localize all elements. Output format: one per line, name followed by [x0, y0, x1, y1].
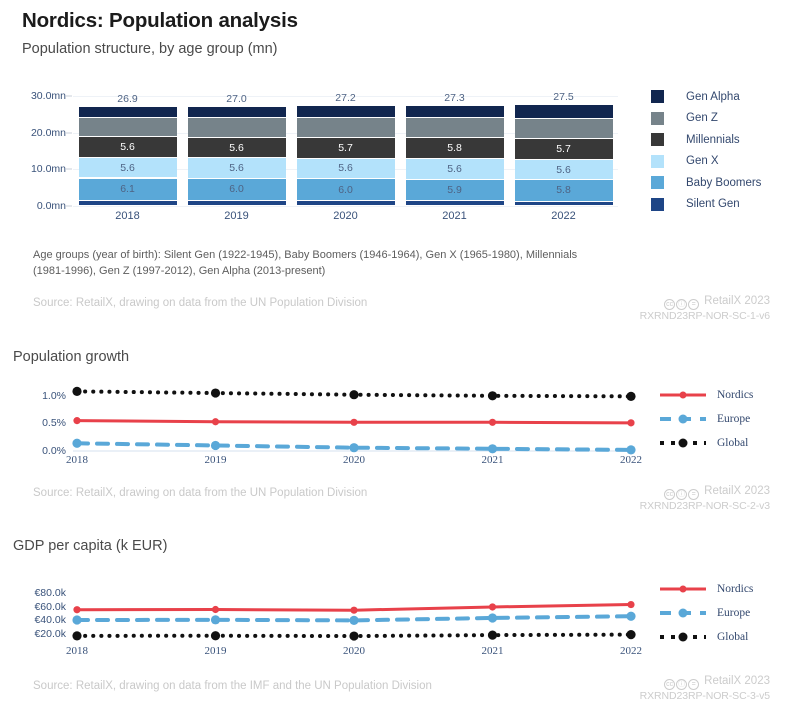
series-point[interactable]	[488, 391, 497, 400]
bar-segment[interactable]: 5.6	[515, 160, 613, 181]
bar-segment[interactable]	[188, 118, 286, 137]
series-point[interactable]	[211, 388, 220, 397]
chart1-y-tick-mark	[66, 132, 72, 133]
bar-segment[interactable]	[406, 118, 504, 138]
stacked-bar[interactable]: 6.05.65.627.0	[188, 96, 286, 206]
series-point[interactable]	[489, 603, 496, 610]
bar-segment[interactable]: 6.0	[188, 179, 286, 201]
bar-segment[interactable]: 5.7	[297, 138, 395, 159]
legend-item[interactable]: Gen Z	[651, 108, 761, 130]
legend-swatch	[651, 112, 664, 125]
plot2-y-tick-label: 1.0%	[42, 390, 66, 402]
bar-segment[interactable]	[515, 119, 613, 139]
chart1-y-tick-mark	[66, 96, 72, 97]
xticks3-label: 2019	[205, 645, 227, 657]
chart1-x-tick-label: 2021	[442, 210, 466, 222]
series-point[interactable]	[211, 441, 220, 450]
plot2-y-tick-label: 0.5%	[42, 417, 66, 429]
chart1-x-tick-label: 2018	[115, 210, 139, 222]
bar-segment[interactable]: 5.6	[79, 158, 177, 179]
legend-key-dot	[679, 415, 688, 424]
series-point[interactable]	[350, 419, 357, 426]
xticks3-label: 2022	[620, 645, 642, 657]
bar-segment-value: 5.6	[79, 141, 177, 153]
series-point[interactable]	[211, 615, 220, 624]
xticks3-label: 2018	[66, 645, 88, 657]
series-point[interactable]	[488, 444, 497, 453]
chart1-x-tick-label: 2020	[333, 210, 357, 222]
legend-label: Millennials	[686, 134, 740, 146]
legend-swatch	[651, 198, 664, 211]
chart2-title: Population growth	[13, 349, 129, 365]
legend-swatch	[651, 90, 664, 103]
stacked-bar[interactable]: 5.85.65.727.5	[515, 96, 613, 206]
bar-segment-value: 5.6	[79, 162, 177, 174]
legend-item[interactable]: Gen X	[651, 151, 761, 173]
bar-segment-value: 5.6	[515, 164, 613, 176]
chart3-legend: NordicsEuropeGlobal	[660, 577, 753, 649]
legend-key-dot	[679, 633, 688, 642]
series-point[interactable]	[488, 630, 497, 639]
xticks2-label: 2019	[205, 454, 227, 466]
legend-key	[660, 413, 706, 425]
chart1-credit-line1: RetailX 2023	[704, 295, 770, 307]
chart1-source: Source: RetailX, drawing on data from th…	[33, 297, 367, 309]
chart1-subtitle: Population structure, by age group (mn)	[22, 41, 278, 57]
series-point[interactable]	[488, 613, 497, 622]
legend-label: Nordics	[717, 583, 753, 595]
legend-label: Gen Alpha	[686, 91, 740, 103]
bar-segment[interactable]	[406, 106, 504, 118]
bar-total-label: 27.3	[406, 92, 504, 104]
plot2-y-tick-label: 0.0%	[42, 445, 66, 457]
series-point[interactable]	[626, 630, 635, 639]
legend-key-dot	[679, 609, 688, 618]
chart1-x-tick-label: 2019	[224, 210, 248, 222]
legend-item[interactable]: Nordics	[660, 383, 753, 407]
series-point[interactable]	[211, 631, 220, 640]
plot3-y-tick-label: €40.0k	[34, 614, 66, 626]
xticks3-label: 2020	[343, 645, 365, 657]
bar-segment[interactable]	[406, 201, 504, 206]
bar-segment[interactable]	[297, 201, 395, 206]
legend-label: Europe	[717, 413, 750, 425]
legend-key	[660, 389, 706, 401]
bar-segment-value: 5.6	[188, 162, 286, 174]
legend-item[interactable]: Global	[660, 625, 753, 649]
legend-swatch	[651, 176, 664, 189]
legend-key-dot	[680, 586, 687, 593]
legend-label: Europe	[717, 607, 750, 619]
bar-segment[interactable]: 5.7	[515, 139, 613, 160]
chart1-footnote: Age groups (year of birth): Silent Gen (…	[33, 248, 608, 280]
chart1-gridline	[73, 206, 618, 207]
chart1-credit-code: RXRND23RP-NOR-SC-1-v6	[640, 310, 770, 323]
series-point[interactable]	[212, 418, 219, 425]
chart1-credit: ccⓘ=RetailX 2023 RXRND23RP-NOR-SC-1-v6	[640, 294, 770, 323]
bar-segment[interactable]: 5.6	[188, 158, 286, 179]
chart2-credit: ccⓘ=RetailX 2023 RXRND23RP-NOR-SC-2-v3	[640, 484, 770, 513]
chart3-credit-line1: RetailX 2023	[704, 675, 770, 687]
legend-key	[660, 631, 706, 643]
series-point[interactable]	[73, 606, 80, 613]
bar-segment[interactable]: 5.6	[406, 159, 504, 180]
chart1-legend: Gen AlphaGen ZMillennialsGen XBaby Boome…	[651, 86, 761, 215]
chart1-y-tick-label: 20.0mn	[31, 127, 66, 139]
plot2-lines	[73, 382, 635, 451]
legend-key	[660, 437, 706, 449]
chart1-y-tick-label: 30.0mn	[31, 90, 66, 102]
legend-item[interactable]: Baby Boomers	[651, 172, 761, 194]
legend-item[interactable]: Europe	[660, 407, 753, 431]
series-point[interactable]	[627, 601, 634, 608]
legend-item[interactable]: Europe	[660, 601, 753, 625]
bar-segment[interactable]	[79, 118, 177, 137]
legend-label: Global	[717, 437, 748, 449]
bar-segment-value: 5.6	[297, 162, 395, 174]
xticks2-label: 2021	[482, 454, 504, 466]
bar-total-label: 27.5	[515, 91, 613, 103]
legend-label: Baby Boomers	[686, 177, 761, 189]
series-point[interactable]	[72, 615, 81, 624]
chart2-credit-line1: RetailX 2023	[704, 485, 770, 497]
legend-item[interactable]: Millennials	[651, 129, 761, 151]
creative-commons-icon: ccⓘ=	[664, 679, 700, 690]
report-page: Nordics: Population analysis Population …	[0, 0, 789, 709]
gdp-per-capita-chart: €20.0k€40.0k€60.0k€80.0k	[73, 586, 635, 641]
series-point[interactable]	[73, 417, 80, 424]
xticks2-label: 2020	[343, 454, 365, 466]
legend-key-dot	[680, 392, 687, 399]
xticks2-label: 2022	[620, 454, 642, 466]
legend-item[interactable]: Gen Alpha	[651, 86, 761, 108]
bar-segment[interactable]: 5.9	[406, 180, 504, 202]
bar-total-label: 27.0	[188, 93, 286, 105]
chart1-y-tick-label: 0.0mn	[37, 200, 66, 212]
series-point[interactable]	[349, 390, 358, 399]
chart2-source: Source: RetailX, drawing on data from th…	[33, 487, 367, 499]
bar-segment-value: 6.1	[79, 183, 177, 195]
series-point[interactable]	[72, 631, 81, 640]
series-point[interactable]	[72, 387, 81, 396]
stacked-bar[interactable]: 6.05.65.727.2	[297, 96, 395, 206]
plot3-y-tick-label: €80.0k	[34, 587, 66, 599]
legend-key	[660, 607, 706, 619]
legend-item[interactable]: Nordics	[660, 577, 753, 601]
series-point[interactable]	[349, 631, 358, 640]
stacked-bar[interactable]: 6.15.65.626.9	[79, 96, 177, 206]
page-title: Nordics: Population analysis	[22, 9, 298, 33]
bar-segment[interactable]: 5.8	[515, 180, 613, 201]
series-point[interactable]	[350, 607, 357, 614]
chart3-credit: ccⓘ=RetailX 2023 RXRND23RP-NOR-SC-3-v5	[640, 674, 770, 703]
series-point[interactable]	[626, 392, 635, 401]
series-point[interactable]	[349, 443, 358, 452]
legend-item[interactable]: Silent Gen	[651, 194, 761, 216]
series-point[interactable]	[489, 419, 496, 426]
chart1-y-tick-mark	[66, 169, 72, 170]
chart1-y-tick-label: 10.0mn	[31, 163, 66, 175]
legend-label: Global	[717, 631, 748, 643]
legend-label: Gen Z	[686, 112, 718, 124]
series-point[interactable]	[72, 439, 81, 448]
bar-segment-value: 6.0	[297, 184, 395, 196]
stacked-bar[interactable]: 5.95.65.827.3	[406, 96, 504, 206]
bar-segment[interactable]: 5.6	[188, 138, 286, 159]
population-structure-chart: 0.0mn10.0mn20.0mn30.0mn6.15.65.626.96.05…	[73, 96, 618, 206]
bar-segment[interactable]	[188, 107, 286, 118]
legend-swatch	[651, 133, 664, 146]
legend-label: Silent Gen	[686, 198, 740, 210]
bar-segment-value: 5.7	[297, 142, 395, 154]
series-point[interactable]	[627, 419, 634, 426]
plot3-y-tick-label: €60.0k	[34, 601, 66, 613]
series-point[interactable]	[626, 612, 635, 621]
chart3-source: Source: RetailX, drawing on data from th…	[33, 680, 432, 692]
bar-segment-value: 5.6	[188, 142, 286, 154]
chart1-y-tick-mark	[66, 206, 72, 207]
bar-segment-value: 5.7	[515, 143, 613, 155]
chart2-credit-code: RXRND23RP-NOR-SC-2-v3	[640, 500, 770, 513]
series-point[interactable]	[212, 606, 219, 613]
bar-segment[interactable]: 5.6	[79, 137, 177, 158]
bar-total-label: 26.9	[79, 93, 177, 105]
population-growth-chart: 0.0%0.5%1.0%	[73, 382, 635, 451]
bar-segment[interactable]: 5.8	[406, 138, 504, 159]
legend-swatch	[651, 155, 664, 168]
legend-label: Gen X	[686, 155, 719, 167]
bar-segment-value: 5.8	[406, 142, 504, 154]
plot3-y-tick-label: €20.0k	[34, 628, 66, 640]
bar-segment[interactable]	[297, 118, 395, 138]
bar-segment-value: 5.9	[406, 184, 504, 196]
legend-key	[660, 583, 706, 595]
bar-segment[interactable]	[188, 201, 286, 206]
creative-commons-icon: ccⓘ=	[664, 489, 700, 500]
bar-segment[interactable]: 6.1	[79, 179, 177, 201]
bar-segment[interactable]: 5.6	[297, 159, 395, 180]
chart3-credit-code: RXRND23RP-NOR-SC-3-v5	[640, 690, 770, 703]
bar-segment[interactable]: 6.0	[297, 179, 395, 201]
bar-segment[interactable]	[515, 105, 613, 119]
bar-segment-value: 5.8	[515, 184, 613, 196]
xticks2-label: 2018	[66, 454, 88, 466]
bar-segment[interactable]	[515, 202, 613, 206]
chart2-legend: NordicsEuropeGlobal	[660, 383, 753, 455]
bar-total-label: 27.2	[297, 92, 395, 104]
bar-segment[interactable]	[79, 107, 177, 118]
plot3-lines	[73, 586, 635, 641]
chart1-x-tick-label: 2022	[551, 210, 575, 222]
creative-commons-icon: ccⓘ=	[664, 299, 700, 310]
chart3-title: GDP per capita (k EUR)	[13, 538, 167, 554]
bar-segment[interactable]	[297, 106, 395, 118]
legend-item[interactable]: Global	[660, 431, 753, 455]
bar-segment-value: 5.6	[406, 163, 504, 175]
bar-segment-value: 6.0	[188, 183, 286, 195]
series-point[interactable]	[349, 616, 358, 625]
bar-segment[interactable]	[79, 201, 177, 206]
legend-label: Nordics	[717, 389, 753, 401]
xticks3-label: 2021	[482, 645, 504, 657]
legend-key-dot	[679, 439, 688, 448]
